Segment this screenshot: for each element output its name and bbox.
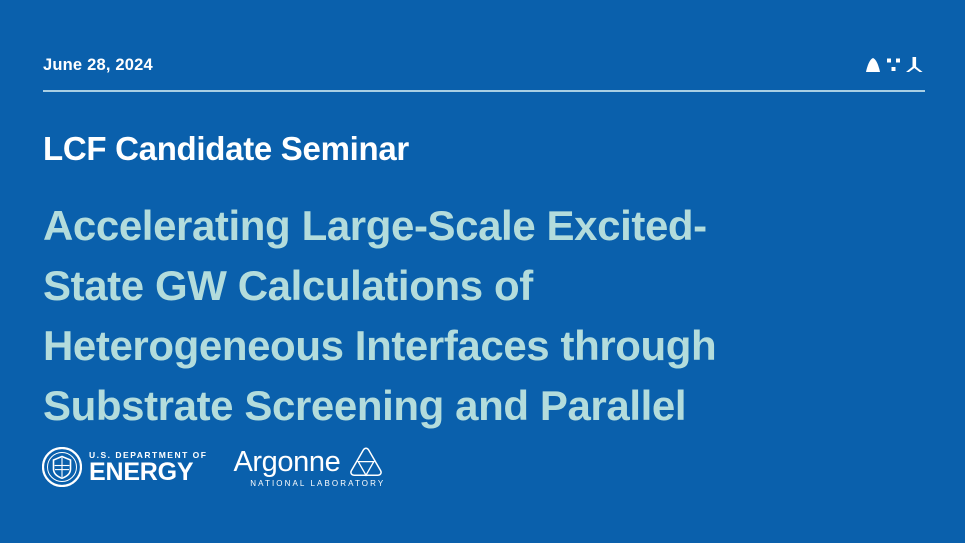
- slide-date: June 28, 2024: [43, 56, 153, 75]
- argonne-subtitle-label: NATIONAL LABORATORY: [250, 479, 385, 489]
- doe-wordmark: U.S. DEPARTMENT OF ENERGY: [89, 450, 207, 485]
- doe-logo: U.S. DEPARTMENT OF ENERGY: [42, 445, 207, 489]
- slide-header: June 28, 2024: [43, 56, 925, 92]
- headline-line-2: State GW Calculations of: [43, 256, 923, 316]
- slide-logos: U.S. DEPARTMENT OF ENERGY Argonne NATION…: [42, 443, 385, 491]
- presentation-slide: June 28, 2024: [0, 0, 965, 543]
- slide-headline: Accelerating Large-Scale Excited- State …: [43, 196, 923, 436]
- argonne-name-label: Argonne: [233, 447, 340, 477]
- argonne-header-mark: [863, 52, 925, 78]
- three-dots-icon: [887, 59, 900, 72]
- doe-seal-icon: [42, 447, 82, 487]
- tripod-y-icon: [906, 57, 923, 72]
- headline-line-3: Heterogeneous Interfaces through: [43, 316, 923, 376]
- doe-energy-label: ENERGY: [89, 460, 207, 485]
- argonne-triangle-icon: [347, 445, 385, 478]
- header-divider: [43, 90, 925, 92]
- headline-line-1: Accelerating Large-Scale Excited-: [43, 196, 923, 256]
- mountain-triangle-icon: [866, 58, 880, 72]
- argonne-wordmark-row: Argonne: [233, 445, 385, 478]
- argonne-logo: Argonne NATIONAL LABORATORY: [233, 445, 385, 489]
- headline-line-4: Substrate Screening and Parallel: [43, 376, 923, 436]
- slide-eyebrow-title: LCF Candidate Seminar: [43, 130, 409, 168]
